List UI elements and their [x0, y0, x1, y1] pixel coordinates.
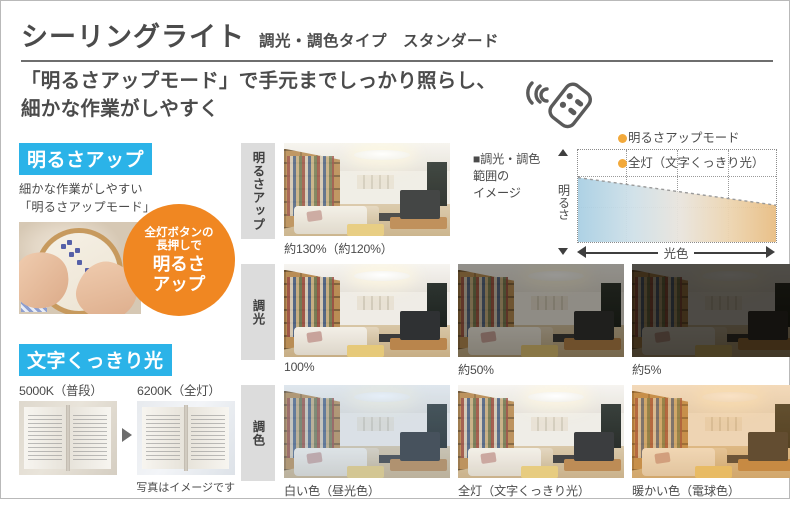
chart-x-label: 光色: [658, 244, 695, 262]
grid-cell: 全灯（文字くっきり光）: [458, 385, 624, 499]
callout-line-3: 明るさ: [153, 255, 206, 274]
title-row: シーリングライト 調光・調色タイプ スタンダード: [21, 15, 773, 54]
room-photo-50: [458, 264, 624, 357]
room-photo-130: [284, 143, 450, 236]
header-divider: [21, 60, 773, 62]
chart-title: ■調光・調色 範囲の イメージ: [473, 151, 551, 202]
book-photo-5000k: [19, 401, 117, 475]
arrow-left-icon: [577, 246, 586, 258]
caption-warm: 暖かい色（電球色）: [632, 481, 790, 499]
callout-line-4: アップ: [153, 275, 206, 294]
photo-disclaimer: 写真はイメージです: [19, 479, 235, 495]
badge-brightness-up: 明るさアップ: [19, 143, 152, 175]
row-label-brightness-up: 明るさアップ: [241, 143, 275, 239]
caption-daylight: 白い色（昼光色）: [284, 481, 450, 499]
book-label-5000k: 5000K（普段）: [19, 381, 117, 401]
product-page: シーリングライト 調光・調色タイプ スタンダード 「明るさアップモード」で手元ま…: [0, 0, 790, 499]
caption-5: 約5%: [632, 360, 790, 378]
room-photo-5: [632, 264, 790, 357]
caption-100: 100%: [284, 360, 450, 374]
caption-50: 約50%: [458, 360, 624, 378]
grid-cell: 約50%: [458, 264, 624, 378]
grid-cell: 約5%: [632, 264, 790, 378]
headline: 「明るさアップモード」で手元までしっかり照らし、 細かな作業がしやすく: [21, 67, 561, 124]
room-photo-neutral: [458, 385, 624, 478]
chart-x-axis: 光色: [577, 244, 775, 262]
page-subtitle: 調光・調色タイプ スタンダード: [259, 29, 499, 51]
caption-130: 約130%（約120%）: [284, 239, 450, 257]
remote-control-icon: [516, 73, 596, 129]
grid-cell: 暖かい色（電球色）: [632, 385, 790, 499]
book-photo-6200k: [137, 401, 235, 475]
grid-row-color: 調色 白い色（昼光色）: [241, 385, 541, 499]
book-comparison: 5000K（普段） 6200K（全灯）: [19, 381, 235, 475]
chart-y-axis: 明るさ: [553, 149, 573, 255]
label-all-light: 全灯（文字くっきり光）: [628, 153, 764, 171]
chart-y-label: 明るさ: [554, 184, 572, 221]
page-header: シーリングライト 調光・調色タイプ スタンダード: [21, 15, 773, 54]
left-feature-panel: 明るさアップ 細かな作業がしやすい 「明るさアップモード」 全灯ボタンの 長押し…: [19, 143, 235, 495]
marker-brightness-up-mode: [618, 134, 627, 143]
room-photo-daylight: [284, 385, 450, 478]
room-photo-100: [284, 264, 450, 357]
arrow-up-icon: [558, 149, 568, 156]
callout-line-1: 全灯ボタンの: [145, 227, 214, 241]
triangle-right-icon: [117, 398, 137, 472]
grid-cell: 100%: [284, 264, 450, 378]
row-label-dimming: 調光: [241, 264, 275, 360]
grid-cell: 白い色（昼光色）: [284, 385, 450, 499]
arrow-down-icon: [558, 248, 568, 255]
page-title: シーリングライト: [21, 15, 245, 54]
row-label-color: 調色: [241, 385, 275, 481]
dimming-range-chart: ■調光・調色 範囲の イメージ 明るさ 明るさアップモード 全灯（文字くっきり光…: [473, 141, 779, 266]
callout-line-2: 長押しで: [156, 240, 202, 254]
book-label-6200k: 6200K（全灯）: [137, 381, 235, 401]
arrow-right-icon: [766, 246, 775, 258]
callout-circle: 全灯ボタンの 長押しで 明るさ アップ: [123, 204, 235, 316]
label-brightness-up-mode: 明るさアップモード: [628, 128, 740, 146]
chart-plot-area: 明るさアップモード 全灯（文字くっきり光）: [577, 149, 777, 243]
embroidery-photo-block: 全灯ボタンの 長押しで 明るさ アップ: [19, 222, 235, 314]
book-card-5000k: 5000K（普段）: [19, 381, 117, 475]
text-clarity-section: 文字くっきり光 5000K（普段） 6200K（全灯）: [19, 344, 235, 495]
grid-row-dimming: 調光 100%: [241, 264, 541, 378]
room-photo-warm: [632, 385, 790, 478]
grid-cell: 約130%（約120%）: [284, 143, 450, 257]
badge-text-clarity: 文字くっきり光: [19, 344, 172, 376]
book-card-6200k: 6200K（全灯）: [137, 381, 235, 475]
marker-all-light: [618, 159, 627, 168]
caption-neutral: 全灯（文字くっきり光）: [458, 481, 624, 499]
